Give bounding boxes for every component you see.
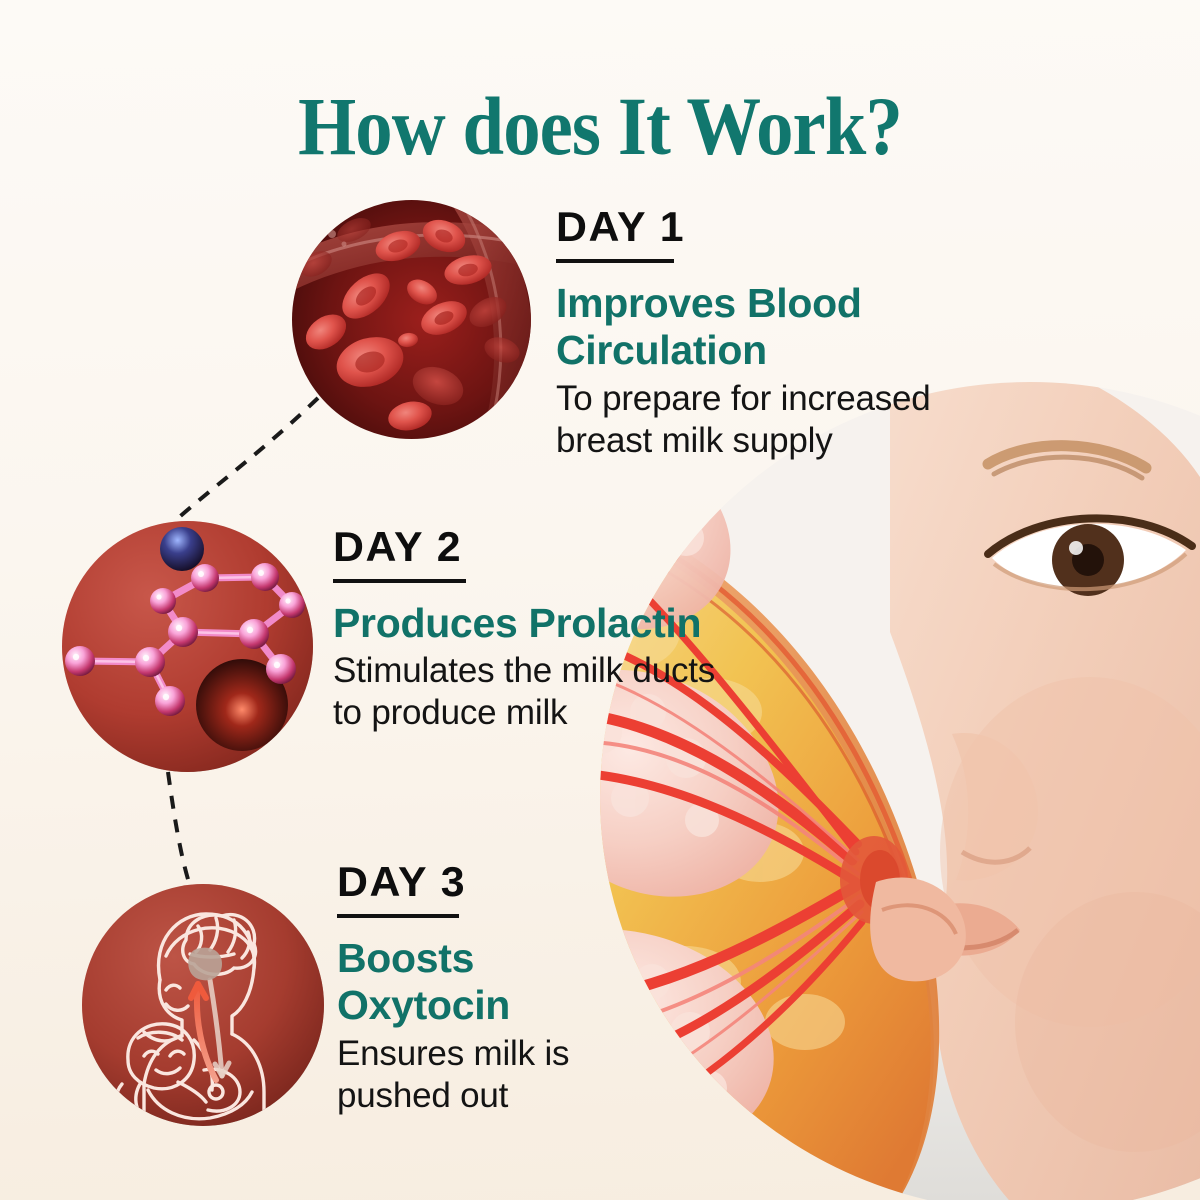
day-3-heading: Boosts Oxytocin [337, 935, 637, 1031]
connector-day1-day2 [176, 398, 318, 520]
day-1-heading: Improves Blood Circulation [556, 280, 986, 376]
page-title: How does It Work? [60, 78, 1140, 174]
oxytocin-mother-baby-icon [82, 884, 324, 1126]
day-3-body: Ensures milk is pushed out [337, 1033, 637, 1117]
photo-clip-ellipse [590, 382, 1200, 1200]
day-2-circle-image [62, 521, 313, 772]
day-2-heading: Produces Prolactin [333, 600, 753, 648]
day-1-circle-image [292, 200, 531, 439]
day-3-underline [337, 914, 459, 918]
day-3-text-block: DAY 3 Boosts Oxytocin Ensures milk is pu… [337, 860, 637, 1117]
connector-day2-day3 [168, 772, 190, 886]
red-blood-cells-icon [292, 200, 531, 439]
breastfeeding-illustration-svg [590, 382, 1200, 1200]
day-1-text-block: DAY 1 Improves Blood Circulation To prep… [556, 205, 986, 462]
day-3-label: DAY 3 [337, 860, 643, 905]
day-1-underline [556, 259, 674, 263]
day-3-circle-image [82, 884, 324, 1126]
infographic-root: How does It Work? [0, 0, 1200, 1200]
day-2-text-block: DAY 2 Produces Prolactin Stimulates the … [333, 525, 753, 734]
day-2-label: DAY 2 [333, 525, 761, 570]
day-2-body: Stimulates the milk ducts to produce mil… [333, 650, 753, 734]
baby-breastfeeding-photo [590, 382, 1200, 1200]
prolactin-molecule-icon [62, 521, 313, 772]
day-1-label: DAY 1 [556, 205, 995, 250]
day-1-body: To prepare for increased breast milk sup… [556, 378, 986, 462]
day-2-underline [333, 579, 466, 583]
